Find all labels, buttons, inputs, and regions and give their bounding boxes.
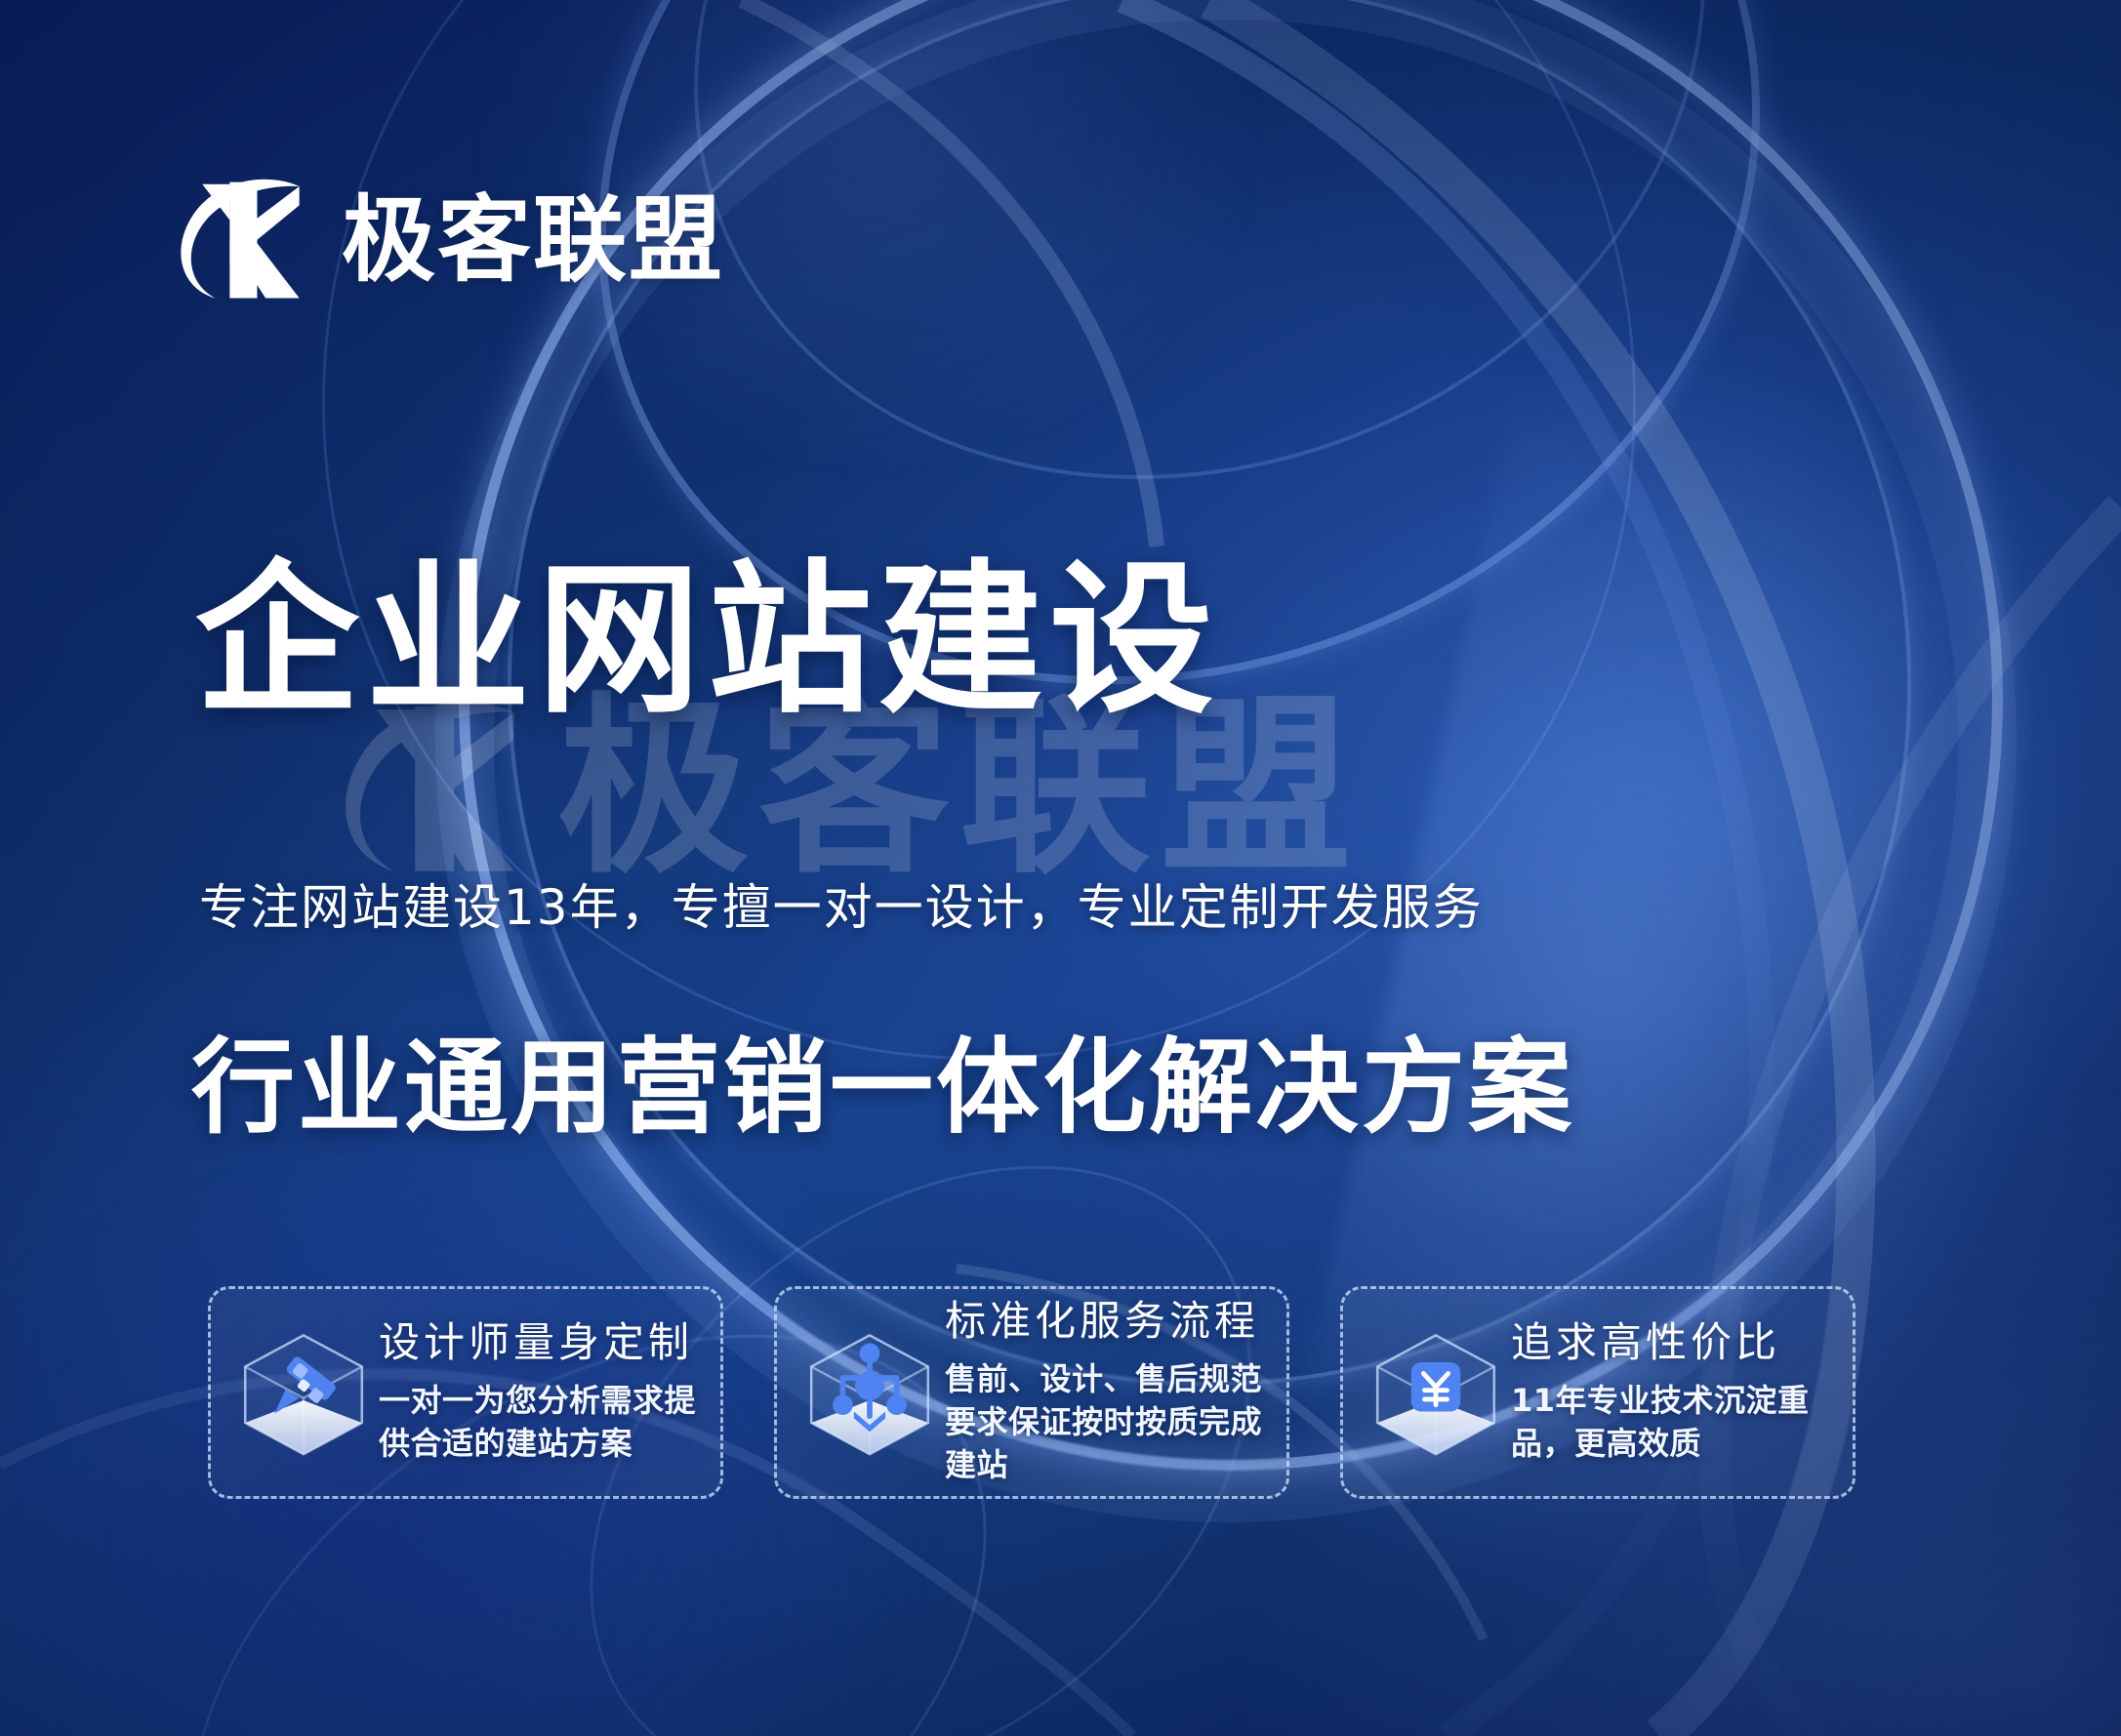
brand-name: 极客联盟 (342, 193, 724, 287)
brand-lockup: 极客联盟 (164, 174, 724, 305)
ck-monogram-logo-icon (164, 174, 312, 305)
feature-card-title: 标准化服务流程 (945, 1299, 1273, 1344)
feature-card[interactable]: 追求高性价比 11年专业技术沉淀重品，更高效质 (1340, 1286, 1856, 1499)
feature-card-description: 11年专业技术沉淀重品，更高效质 (1511, 1379, 1839, 1465)
hero-subheadline: 专注网站建设13年，专擅一对一设计，专业定制开发服务 (199, 868, 1484, 939)
cube-network-nodes-icon (802, 1319, 937, 1466)
feature-card[interactable]: 设计师量身定制 一对一为您分析需求提供合适的建站方案 (208, 1286, 723, 1499)
page-title: 企业网站建设 (195, 551, 1220, 728)
feature-card-title: 设计师量身定制 (379, 1320, 707, 1365)
feature-card-body: 追求高性价比 11年专业技术沉淀重品，更高效质 (1511, 1320, 1839, 1466)
cube-pen-icon (236, 1319, 371, 1466)
cube-yuan-currency-icon (1368, 1319, 1503, 1466)
feature-card-title: 追求高性价比 (1511, 1320, 1839, 1365)
hero-tagline: 行业通用营销一体化解决方案 (191, 1003, 1574, 1153)
feature-card-body: 标准化服务流程 售前、设计、售后规范要求保证按时按质完成建站 (945, 1299, 1273, 1487)
feature-card-list: 设计师量身定制 一对一为您分析需求提供合适的建站方案 (208, 1286, 1856, 1499)
feature-card[interactable]: 标准化服务流程 售前、设计、售后规范要求保证按时按质完成建站 (774, 1286, 1289, 1499)
feature-card-description: 一对一为您分析需求提供合适的建站方案 (379, 1379, 707, 1465)
feature-card-body: 设计师量身定制 一对一为您分析需求提供合适的建站方案 (379, 1320, 707, 1466)
feature-card-description: 售前、设计、售后规范要求保证按时按质完成建站 (945, 1357, 1273, 1486)
poster-canvas: 极客联盟 极客联盟 企业网站建设 专注网站建设13年，专擅一对一设计，专业定制开… (0, 0, 2121, 1736)
poster-content: 极客联盟 企业网站建设 专注网站建设13年，专擅一对一设计，专业定制开发服务 行… (0, 0, 2121, 1736)
